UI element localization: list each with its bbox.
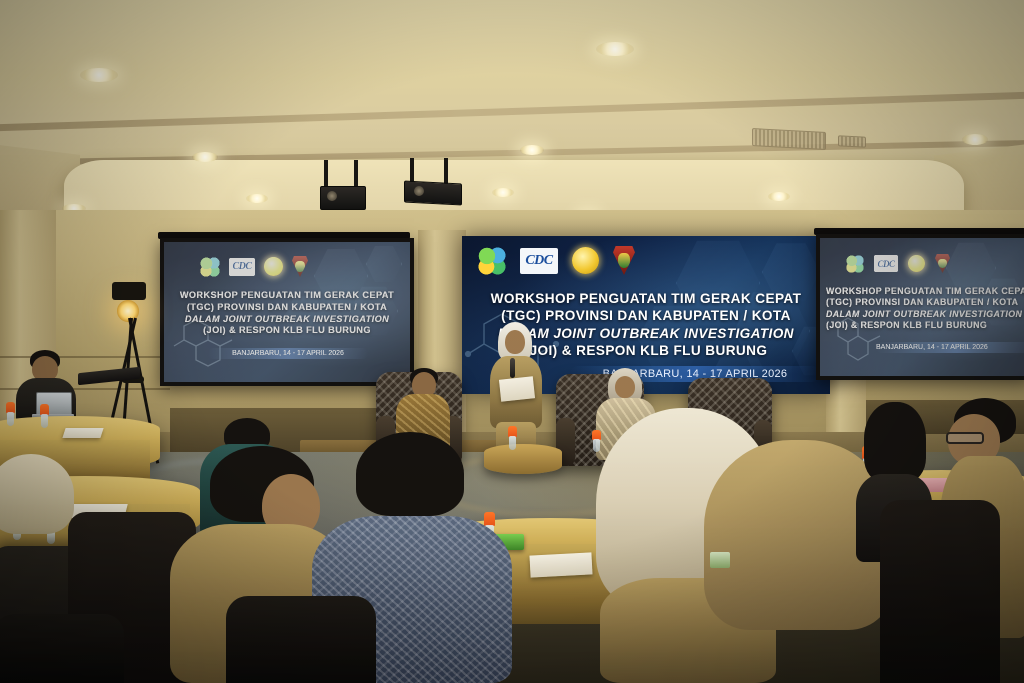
ceiling (0, 0, 1024, 232)
water-bottle (40, 404, 49, 428)
microphone (510, 358, 515, 378)
right-slide-date: BANJARBARU, 14 - 17 APRIL 2026 (876, 342, 1024, 353)
slide-title-line: (JOI) & RESPON KLB FLU BURUNG (826, 320, 1024, 331)
slide-title-line-italic: DALAM JOINT OUTBREAK INVESTIGATION (826, 309, 1024, 320)
left-slide: CDC WORKSHOP PENGUATAN TIM GERAK CEPAT (… (164, 242, 410, 382)
regional-shield-logo (292, 256, 308, 277)
slide-title-line: WORKSHOP PENGUATAN TIM GERAK CEPAT (462, 290, 830, 307)
ceiling-downlight (246, 194, 268, 203)
ceiling-downlight (520, 145, 544, 155)
kemenkes-flower-logo (200, 257, 220, 277)
cdc-logo: CDC (874, 255, 898, 272)
gold-seal-logo (572, 247, 599, 274)
right-projection-screen: CDC WORKSHOP PENGUATAN TIM GERAK CEPAT (… (816, 234, 1024, 380)
ceiling-downlight (80, 68, 118, 82)
slide-title-line: (TGC) PROVINSI DAN KABUPATEN / KOTA (170, 302, 404, 314)
uniform-badge (710, 552, 730, 568)
cdc-logo: CDC (229, 258, 255, 276)
ceiling-air-vent (752, 128, 826, 150)
ceiling-downlight (192, 152, 218, 162)
kemenkes-flower-logo (478, 247, 506, 275)
ceiling-air-vent (838, 135, 866, 147)
ceiling-downlight (768, 192, 790, 201)
right-slide-logos: CDC (846, 254, 950, 273)
speaker-papers (499, 376, 535, 401)
eyeglasses-icon (946, 432, 984, 444)
right-slide-title: WORKSHOP PENGUATAN TIM GERAK CEPAT (TGC)… (826, 286, 1024, 331)
right-slide: CDC WORKSHOP PENGUATAN TIM GERAK CEPAT (… (820, 238, 1024, 376)
ceiling-projector (404, 158, 460, 208)
water-bottle (6, 402, 15, 426)
left-slide-date: BANJARBARU, 14 - 17 APRIL 2026 (208, 348, 368, 359)
audience-chair (226, 596, 376, 683)
head (505, 330, 525, 354)
hair (864, 402, 926, 482)
gold-seal-logo (908, 255, 925, 272)
left-slide-title: WORKSHOP PENGUATAN TIM GERAK CEPAT (TGC)… (170, 290, 404, 337)
hair (356, 432, 464, 516)
ceiling-band-upper (0, 92, 1024, 131)
ceiling-downlight (596, 42, 634, 56)
slide-title-line: (TGC) PROVINSI DAN KABUPATEN / KOTA (826, 297, 1024, 308)
gold-seal-logo (264, 257, 283, 276)
slide-title-line: (JOI) & RESPON KLB FLU BURUNG (170, 325, 404, 337)
slide-title-line: WORKSHOP PENGUATAN TIM GERAK CEPAT (826, 286, 1024, 297)
notepad (62, 428, 103, 438)
audience-chair (880, 500, 1000, 683)
left-projection-screen: CDC WORKSHOP PENGUATAN TIM GERAK CEPAT (… (160, 238, 414, 386)
attendee (0, 454, 74, 550)
head (615, 376, 635, 398)
slide-title-line-italic: DALAM JOINT OUTBREAK INVESTIGATION (170, 314, 404, 326)
camera-body (112, 282, 146, 300)
cdc-logo: CDC (520, 248, 558, 274)
ceiling-projector (320, 160, 364, 208)
regional-shield-logo (935, 254, 950, 273)
conference-hall-photo: CDC WORKSHOP PENGUATAN TIM GERAK CEPAT (… (0, 0, 1024, 683)
slide-title-line: WORKSHOP PENGUATAN TIM GERAK CEPAT (170, 290, 404, 302)
hijab (0, 454, 74, 534)
kemenkes-flower-logo (846, 255, 864, 273)
center-slide-logos: CDC (478, 246, 635, 275)
regional-shield-logo (613, 246, 635, 275)
ceiling-downlight (492, 188, 514, 197)
ceiling-downlight (962, 134, 988, 145)
notepad (529, 552, 592, 577)
audience-chair (0, 614, 124, 683)
left-slide-logos: CDC (200, 256, 308, 277)
